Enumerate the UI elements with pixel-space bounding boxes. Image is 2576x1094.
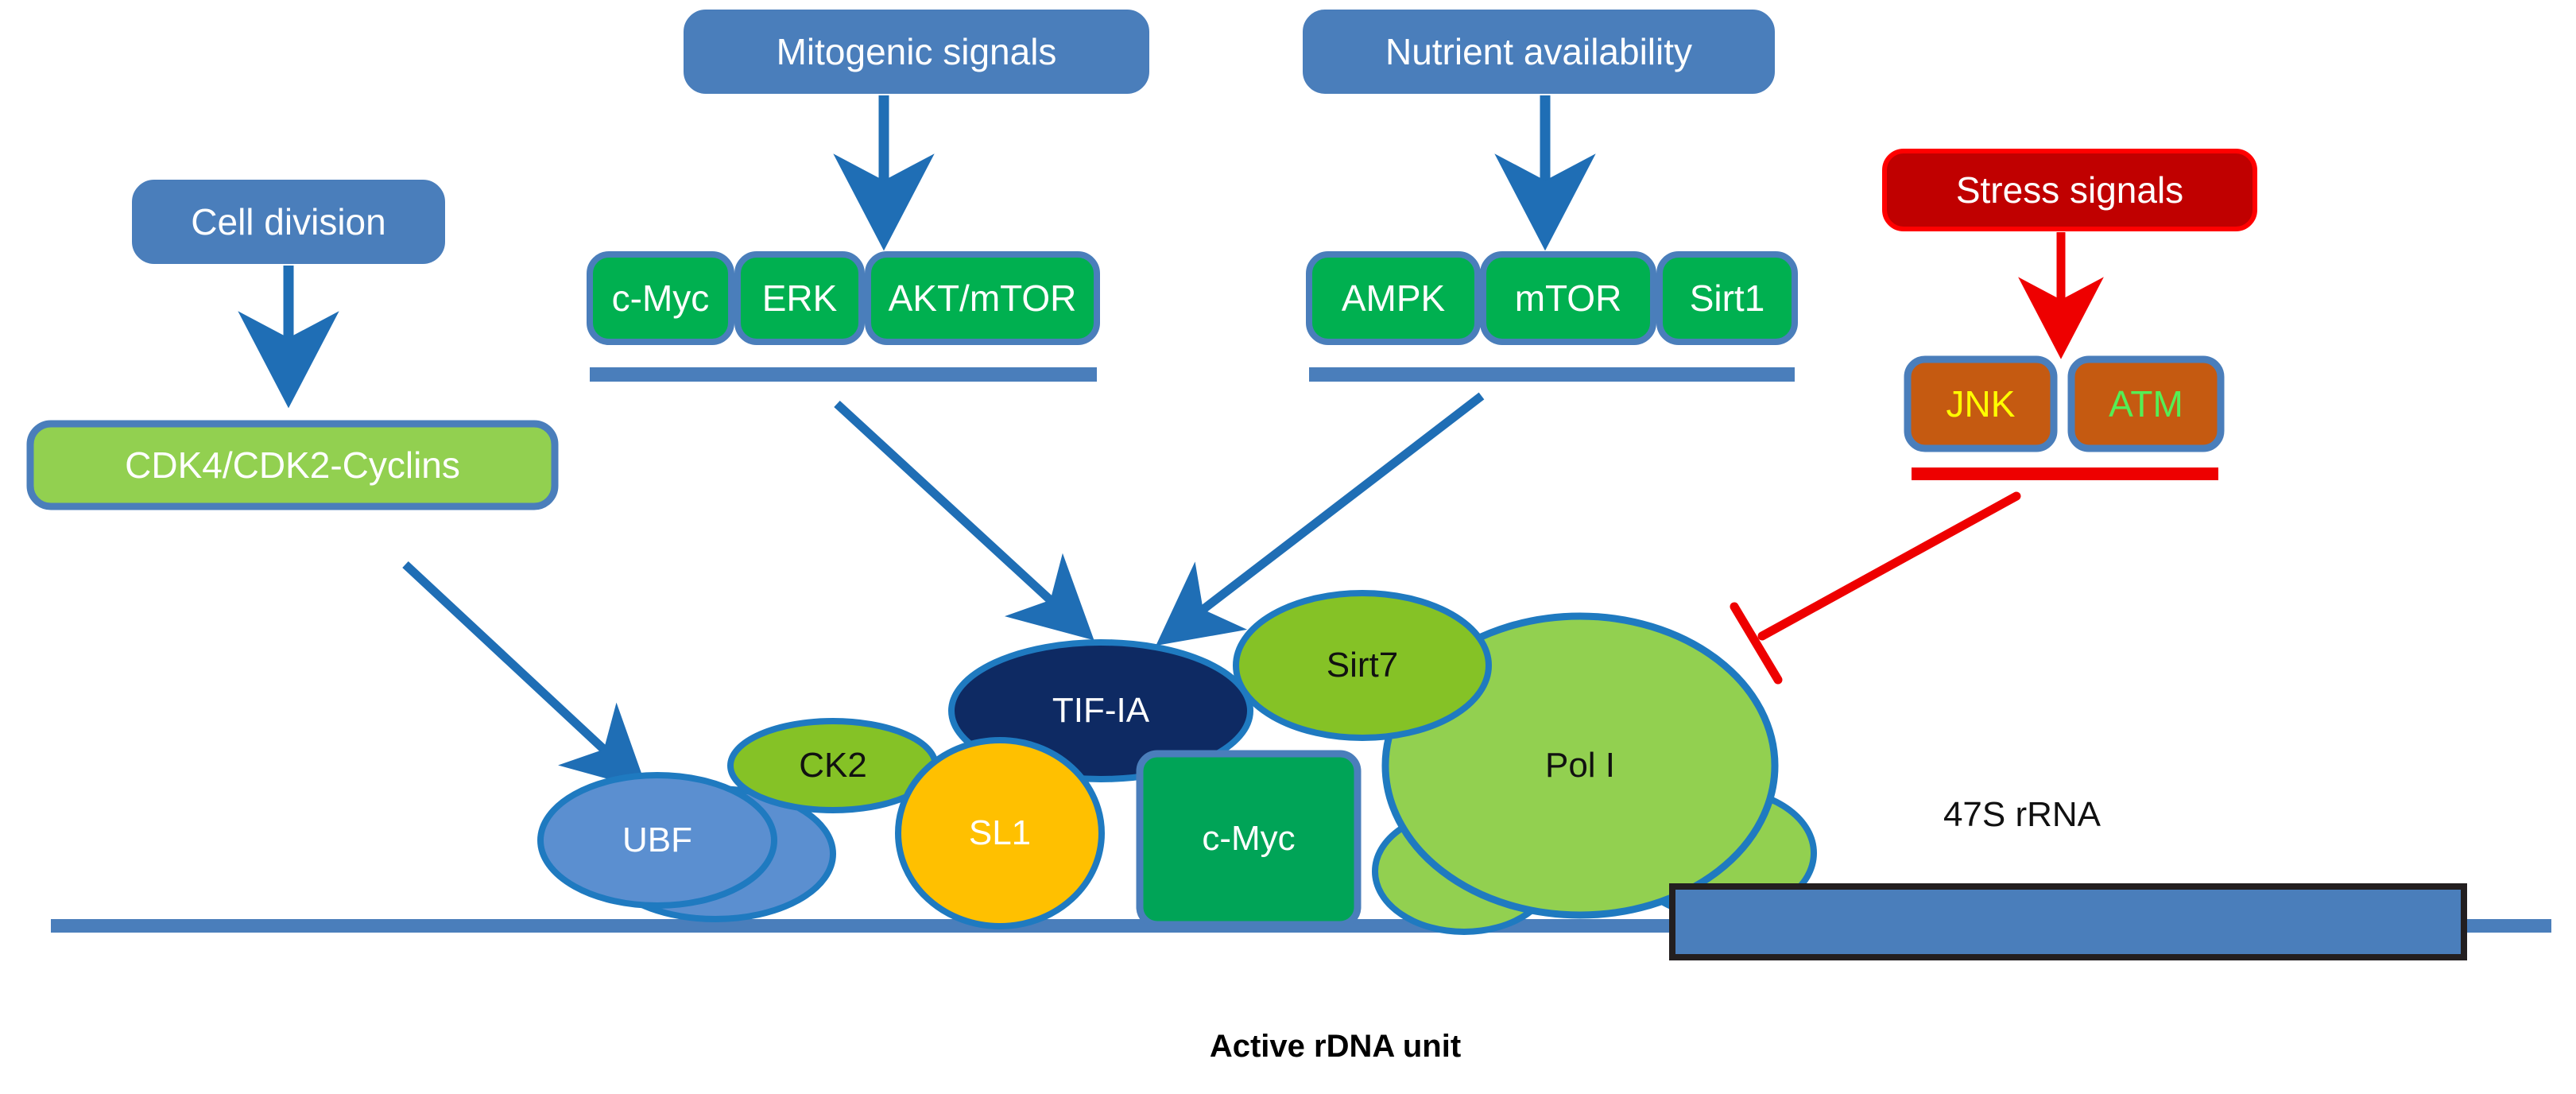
figure-canvas: Cell division Mitogenic signals Nutrient… [0,0,2576,1094]
kinase-group-underline-nutrient [1309,367,1795,382]
cdk4-cdk2-cyclins-box[interactable] [30,424,555,506]
inhibition-line-stress-to-pol-i [1762,496,2016,636]
ubf-ellipse-front[interactable] [540,775,774,906]
pathway-vector-layer [0,0,2576,1094]
arrow-cdk-to-ubf [405,564,636,779]
kinase-chip-sirt1[interactable] [1660,254,1795,342]
kinase-chip-atm[interactable] [2071,359,2221,448]
kinase-chip-akt-mtor[interactable] [868,254,1097,342]
inhibition-tbar-stress-to-pol-i [1734,607,1778,680]
signal-box-mitogenic-signals[interactable] [685,11,1148,92]
signal-box-cell-division[interactable] [134,181,444,262]
signal-box-nutrient-availability[interactable] [1304,11,1773,92]
47s-rrna-box[interactable] [1672,886,2464,957]
kinase-chip-erk[interactable] [738,254,862,342]
sl1-ellipse[interactable] [898,740,1102,926]
kinase-chip-c-myc[interactable] [590,254,731,342]
kinase-chip-ampk[interactable] [1309,254,1478,342]
kinase-group-underline-mitogenic [590,367,1097,382]
kinase-group-underline-stress [1912,467,2218,480]
c-myc-complex-box[interactable] [1140,754,1358,925]
sirt7-ellipse[interactable] [1236,593,1489,738]
kinase-chip-mtor[interactable] [1483,254,1653,342]
signal-box-stress-signals[interactable] [1885,151,2255,229]
arrow-mitogenic-effectors-to-complex [837,404,1083,630]
kinase-chip-jnk[interactable] [1908,359,2054,448]
